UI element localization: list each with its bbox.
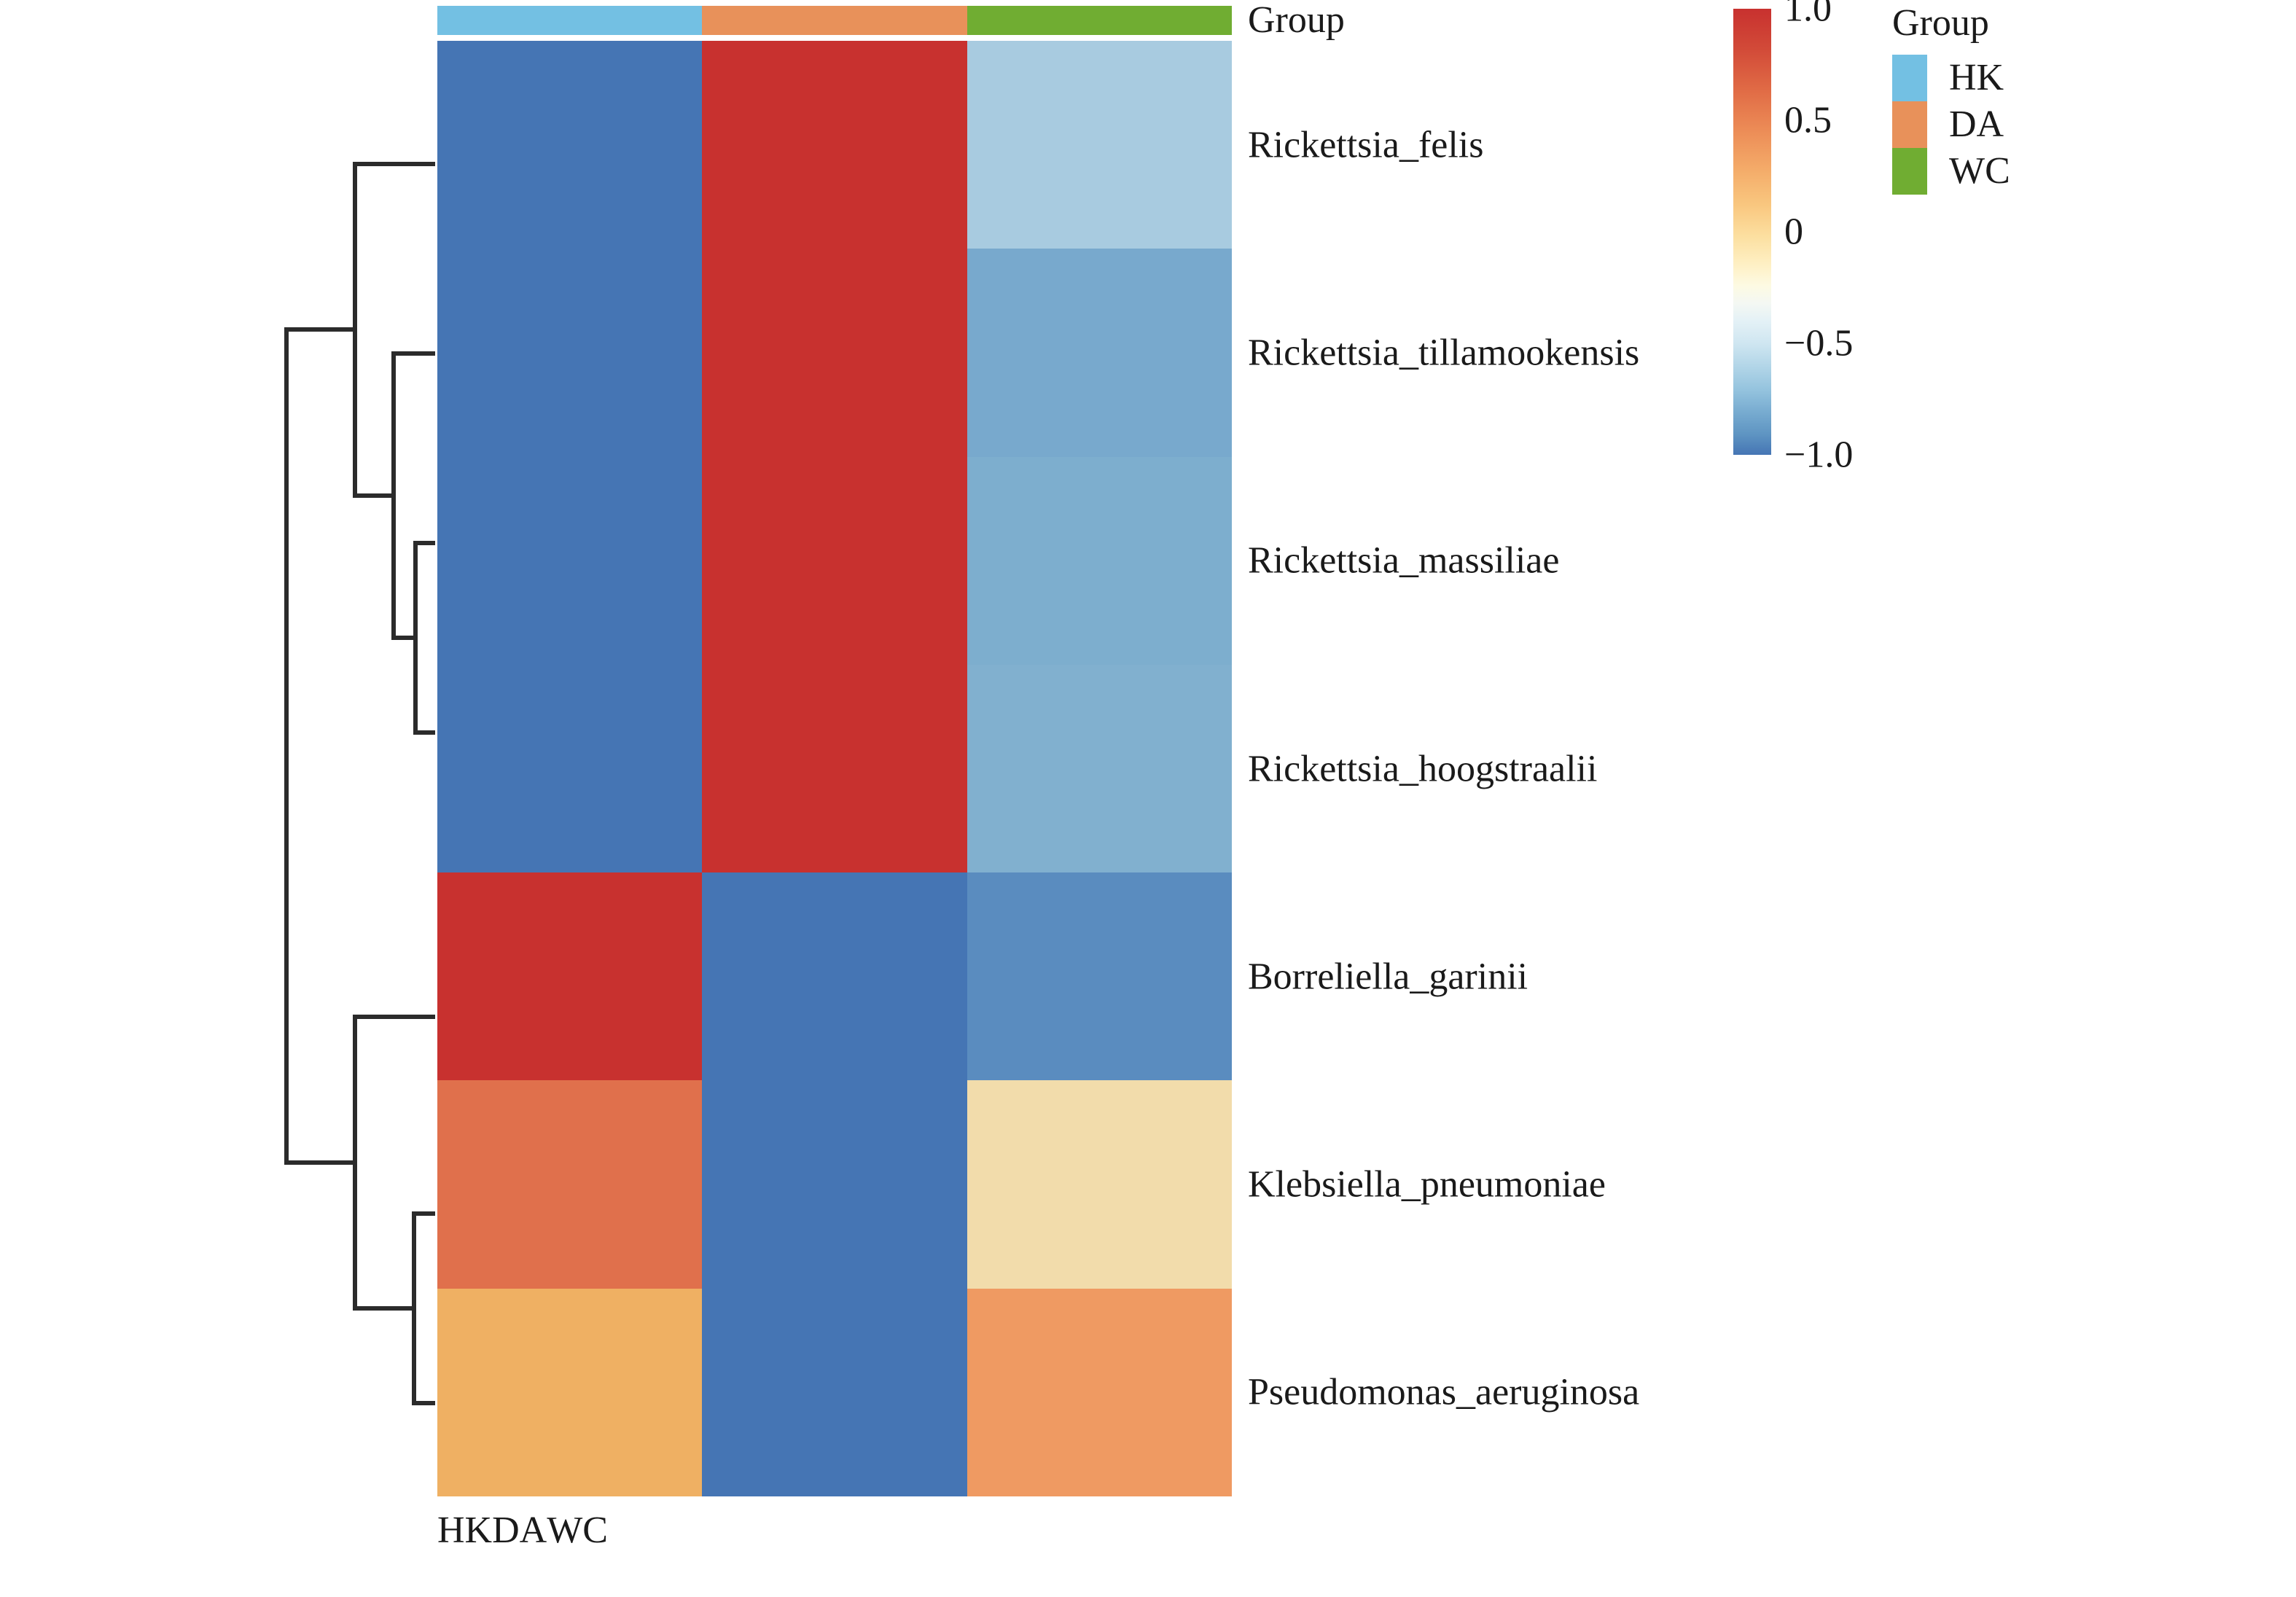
heatmap-grid <box>437 41 1232 1496</box>
heatmap-cell <box>702 665 967 872</box>
group-legend-title: Group <box>1892 1 2198 44</box>
group-annotation-label: Group <box>1248 0 1345 41</box>
row-label: Rickettsia_hoogstraalii <box>1248 747 1597 790</box>
colorbar-tick-label: 1.0 <box>1784 0 1832 31</box>
heatmap-cell <box>702 457 967 665</box>
heatmap-cell <box>437 1289 702 1496</box>
heatmap-cell <box>967 249 1232 456</box>
colorbar-tick-label: −0.5 <box>1784 322 1853 365</box>
heatmap-row <box>437 41 1232 249</box>
heatmap-cell <box>437 872 702 1080</box>
heatmap-cell <box>967 1289 1232 1496</box>
group-legend-swatch <box>1892 55 1927 101</box>
group-legend-body: HKDAWC <box>1892 55 2198 195</box>
group-legend-swatch <box>1892 148 1927 195</box>
group-legend-label: HK <box>1949 55 2010 101</box>
group-annotation-bar <box>437 6 1232 35</box>
group-annotation-segment-hk <box>437 6 702 35</box>
heatmap-cell <box>437 457 702 665</box>
colorbar <box>1733 9 1771 455</box>
row-label: Rickettsia_massiliae <box>1248 539 1559 582</box>
heatmap-cell <box>702 41 967 249</box>
group-legend-label: DA <box>1949 101 2010 148</box>
heatmap-row <box>437 1080 1232 1288</box>
heatmap-row <box>437 249 1232 456</box>
row-label: Borreliella_garinii <box>1248 955 1528 998</box>
row-label: Klebsiella_pneumoniae <box>1248 1163 1606 1206</box>
heatmap-cell <box>437 665 702 872</box>
column-label-wc: WC <box>547 1503 608 1576</box>
heatmap-cell <box>437 41 702 249</box>
row-dendrogram <box>0 0 452 1597</box>
row-label: Rickettsia_felis <box>1248 123 1483 166</box>
heatmap-cell <box>702 1080 967 1288</box>
group-annotation-segment-wc <box>967 6 1232 35</box>
heatmap-cell <box>437 1080 702 1288</box>
group-annotation-segment-da <box>702 6 967 35</box>
heatmap-cell <box>967 665 1232 872</box>
heatmap-figure: Group Rickettsia_felisRickettsia_tillamo… <box>0 0 2296 1597</box>
group-legend-swatches <box>1892 55 1927 195</box>
heatmap-cell <box>967 41 1232 249</box>
heatmap-cell <box>437 249 702 456</box>
colorbar-tick-label: 0.5 <box>1784 99 1832 142</box>
group-legend: Group HKDAWC <box>1892 1 2198 195</box>
group-legend-swatch <box>1892 101 1927 148</box>
group-legend-keys: HKDAWC <box>1949 55 2010 195</box>
column-label-hk: HK <box>437 1503 492 1576</box>
heatmap-row <box>437 872 1232 1080</box>
colorbar-tick-label: −1.0 <box>1784 434 1853 477</box>
heatmap-cell <box>702 872 967 1080</box>
heatmap-cell <box>967 1080 1232 1288</box>
column-label-da: DA <box>492 1503 547 1576</box>
heatmap-row <box>437 457 1232 665</box>
row-label: Pseudomonas_aeruginosa <box>1248 1371 1639 1414</box>
heatmap-cell <box>967 457 1232 665</box>
row-label: Rickettsia_tillamookensis <box>1248 331 1639 374</box>
heatmap-row <box>437 1289 1232 1496</box>
heatmap-row <box>437 665 1232 872</box>
colorbar-tick-label: 0 <box>1784 211 1803 254</box>
heatmap-cell <box>702 1289 967 1496</box>
column-label-row: HK DA WC <box>437 1503 1232 1576</box>
group-legend-label: WC <box>1949 148 2010 195</box>
heatmap-cell <box>702 249 967 456</box>
heatmap-cell <box>967 872 1232 1080</box>
colorbar-gradient <box>1733 9 1771 455</box>
